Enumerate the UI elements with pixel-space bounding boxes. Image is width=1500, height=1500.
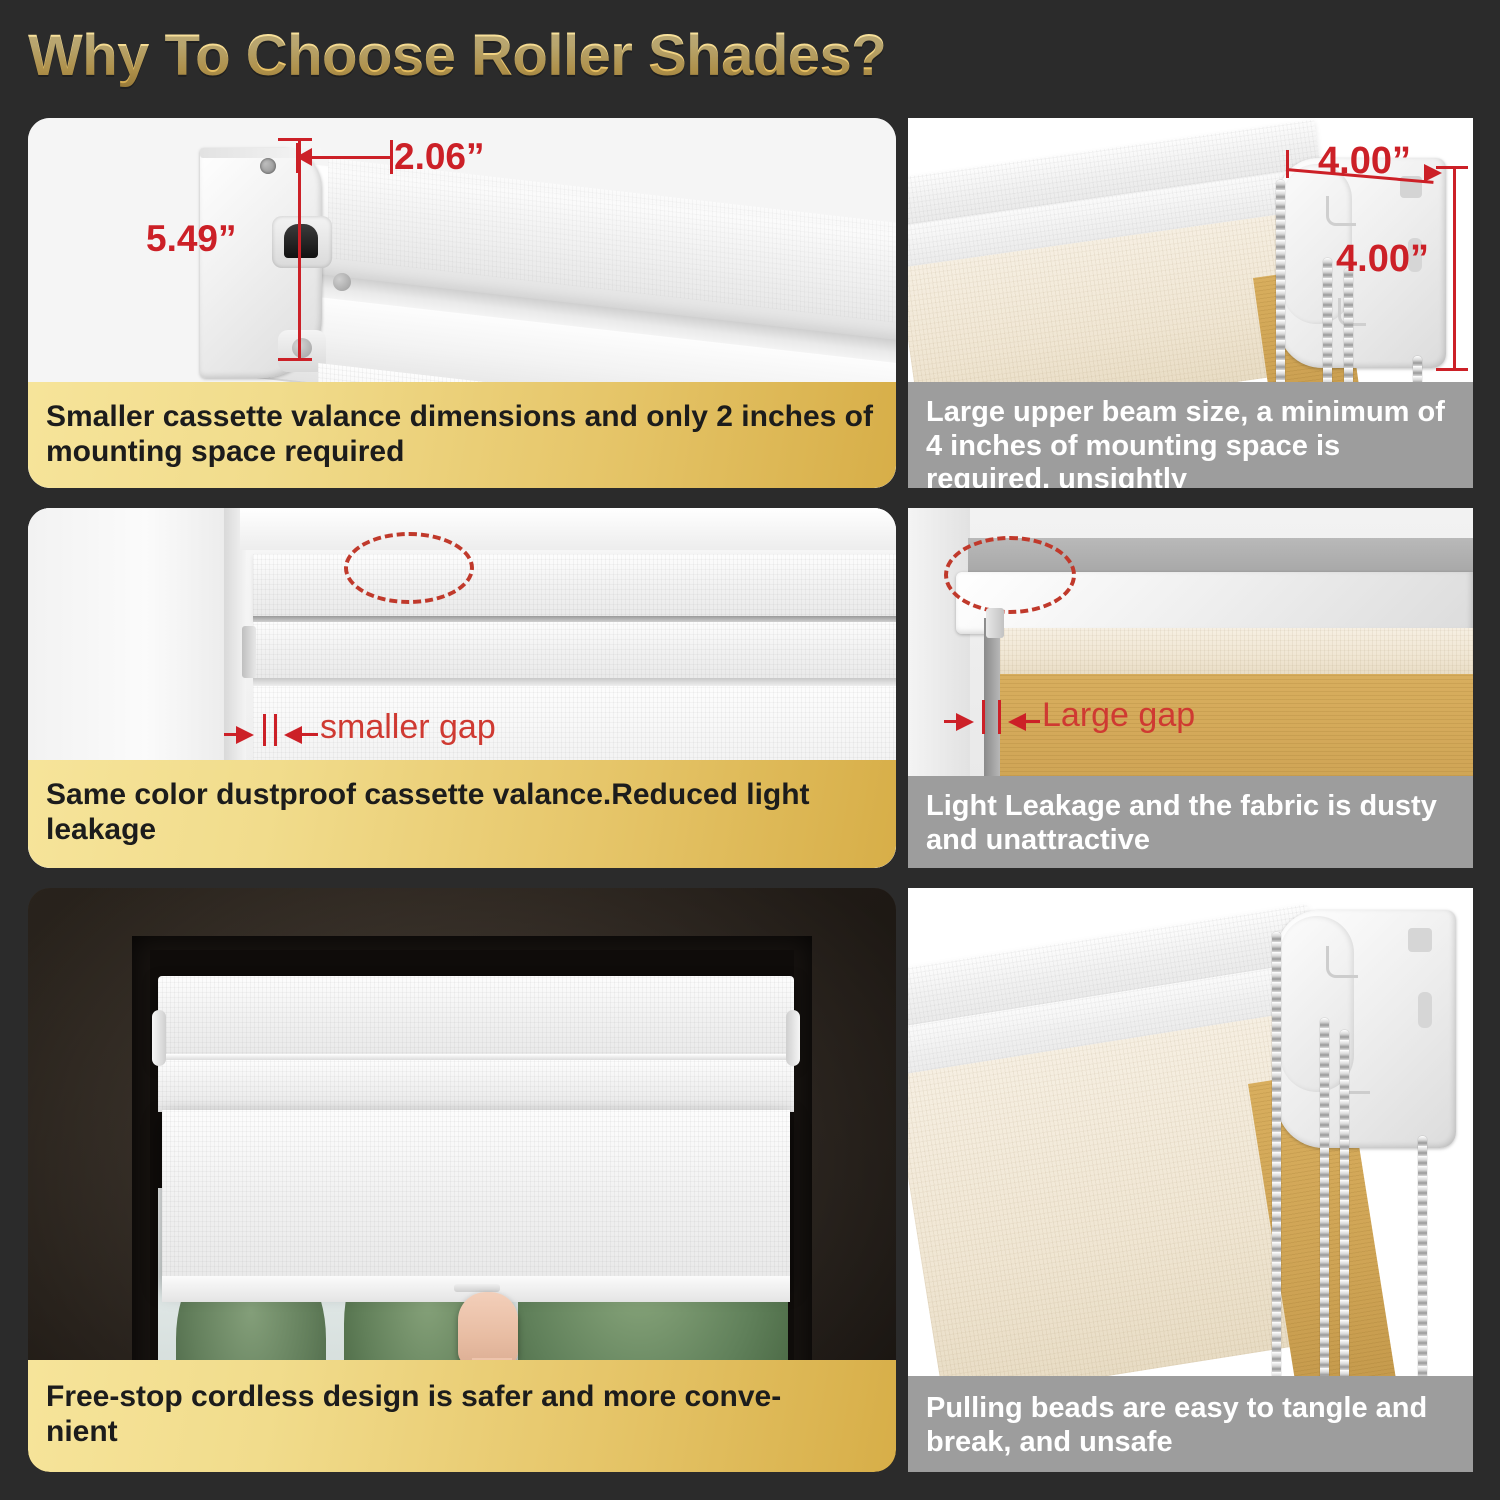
- panel-pulling-beads: Pulling beads are easy to tangle and bre…: [908, 888, 1473, 1472]
- dim-height-label: 5.49”: [146, 218, 237, 260]
- bracket-screw-bottom: [292, 338, 312, 358]
- bracket-mount-notch-2: [1418, 992, 1432, 1028]
- dim-height-line: [298, 138, 301, 360]
- gap4-marker-2: [998, 700, 1001, 734]
- fabric-beige-top: [1000, 628, 1473, 676]
- bracket-emboss-top: [1326, 946, 1358, 978]
- valance-endcap-left: [152, 1010, 166, 1066]
- dim2-height-label: 4.00”: [1336, 238, 1429, 281]
- panel-6-caption: Pulling beads are easy to tangle and bre…: [908, 1376, 1473, 1472]
- panel-3-caption: Same color dustproof cassette valance.Re…: [28, 760, 896, 868]
- panel-5-caption: Free-stop cordless design is safer and m…: [28, 1360, 896, 1472]
- panel-smaller-cassette: 2.06” 5.49” Smaller cassette valance dim…: [28, 118, 896, 488]
- page-title: Why To Choose Roller Shades?: [28, 22, 886, 89]
- panel-6-caption-text: Pulling beads are easy to tangle and bre…: [926, 1392, 1427, 1458]
- dim2-height-tick-bottom: [1436, 368, 1468, 371]
- panel-3-caption-text: Same color dustproof cassette valance.Re…: [46, 778, 810, 846]
- dim2-height-tick-top: [1436, 166, 1468, 169]
- valance-endcap-right: [786, 1010, 800, 1066]
- gap-arrow-right-shaft: [300, 733, 318, 736]
- valance-skirt: [158, 1060, 794, 1112]
- dim-width-label: 2.06”: [394, 136, 485, 178]
- gap-marker-1: [263, 714, 266, 746]
- gap-label-large: Large gap: [1042, 696, 1195, 735]
- bracket-screw-top: [260, 158, 276, 174]
- panel-4-caption: Light Leakage and the fabric is dusty an…: [908, 776, 1473, 868]
- panel-light-leakage: Large gap Light Leakage and the fabric i…: [908, 508, 1473, 868]
- shade-body-installed: [162, 1110, 790, 1282]
- gap4-arrow-right-shaft: [1024, 720, 1040, 723]
- panel-cordless-design: Free-stop cordless design is safer and m…: [28, 888, 896, 1472]
- bracket-mount-notch-1: [1408, 928, 1432, 952]
- dim-width-tick-right: [390, 140, 393, 174]
- panel-4-caption-text: Light Leakage and the fabric is dusty an…: [926, 790, 1437, 856]
- hardware-clip: [986, 608, 1004, 638]
- dim2-width-tick-left: [1286, 150, 1289, 178]
- panel-large-beam: 4.00” 4.00” Large upper beam size, a min…: [908, 118, 1473, 488]
- valance-side-mechanism: [242, 626, 256, 678]
- bracket-slot-opening: [284, 224, 318, 258]
- bottom-rail-shadow: [253, 678, 896, 686]
- bead-chain-1[interactable]: [1272, 932, 1281, 1452]
- gap-label-smaller: smaller gap: [320, 708, 496, 747]
- hand-palm: [458, 1292, 518, 1366]
- bracket-screw-middle: [333, 273, 351, 291]
- dim2-height-line: [1453, 166, 1456, 370]
- gap-highlight-ellipse-bad: [944, 536, 1076, 614]
- infographic-page: Why To Choose Roller Shades?: [0, 0, 1500, 1500]
- dim-height-tick-top: [278, 138, 312, 141]
- panel-5-caption-line1: Free-stop cordless design is safer and m…: [46, 1380, 878, 1415]
- valance-lower-band: [253, 622, 896, 680]
- dim2-width-label: 4.00”: [1318, 140, 1411, 183]
- gap-highlight-ellipse: [344, 532, 474, 604]
- gap4-arrow-left-shaft: [944, 720, 960, 723]
- bracket-emboss-arrow-top: [1326, 196, 1356, 226]
- gap4-marker-1: [982, 700, 985, 734]
- panel-dustproof-valance: smaller gap Same color dustproof cassett…: [28, 508, 896, 868]
- panel-5-caption-line2: nient: [46, 1415, 878, 1450]
- gap-marker-2: [274, 714, 277, 746]
- panel-2-caption-text: Large upper beam size, a minimum of 4 in…: [926, 396, 1445, 488]
- panel-1-caption: Smaller cassette valance dimensions and …: [28, 382, 896, 488]
- cassette-valance-installed: [158, 976, 794, 1058]
- gap-arrow-left-shaft: [224, 733, 242, 736]
- panel-2-caption: Large upper beam size, a minimum of 4 in…: [908, 382, 1473, 488]
- window-header-trim: [240, 508, 896, 550]
- bottom-rail-grip: [454, 1284, 500, 1292]
- panel-1-caption-text: Smaller cassette valance dimensions and …: [46, 400, 873, 468]
- dim-height-tick-bottom: [278, 358, 312, 361]
